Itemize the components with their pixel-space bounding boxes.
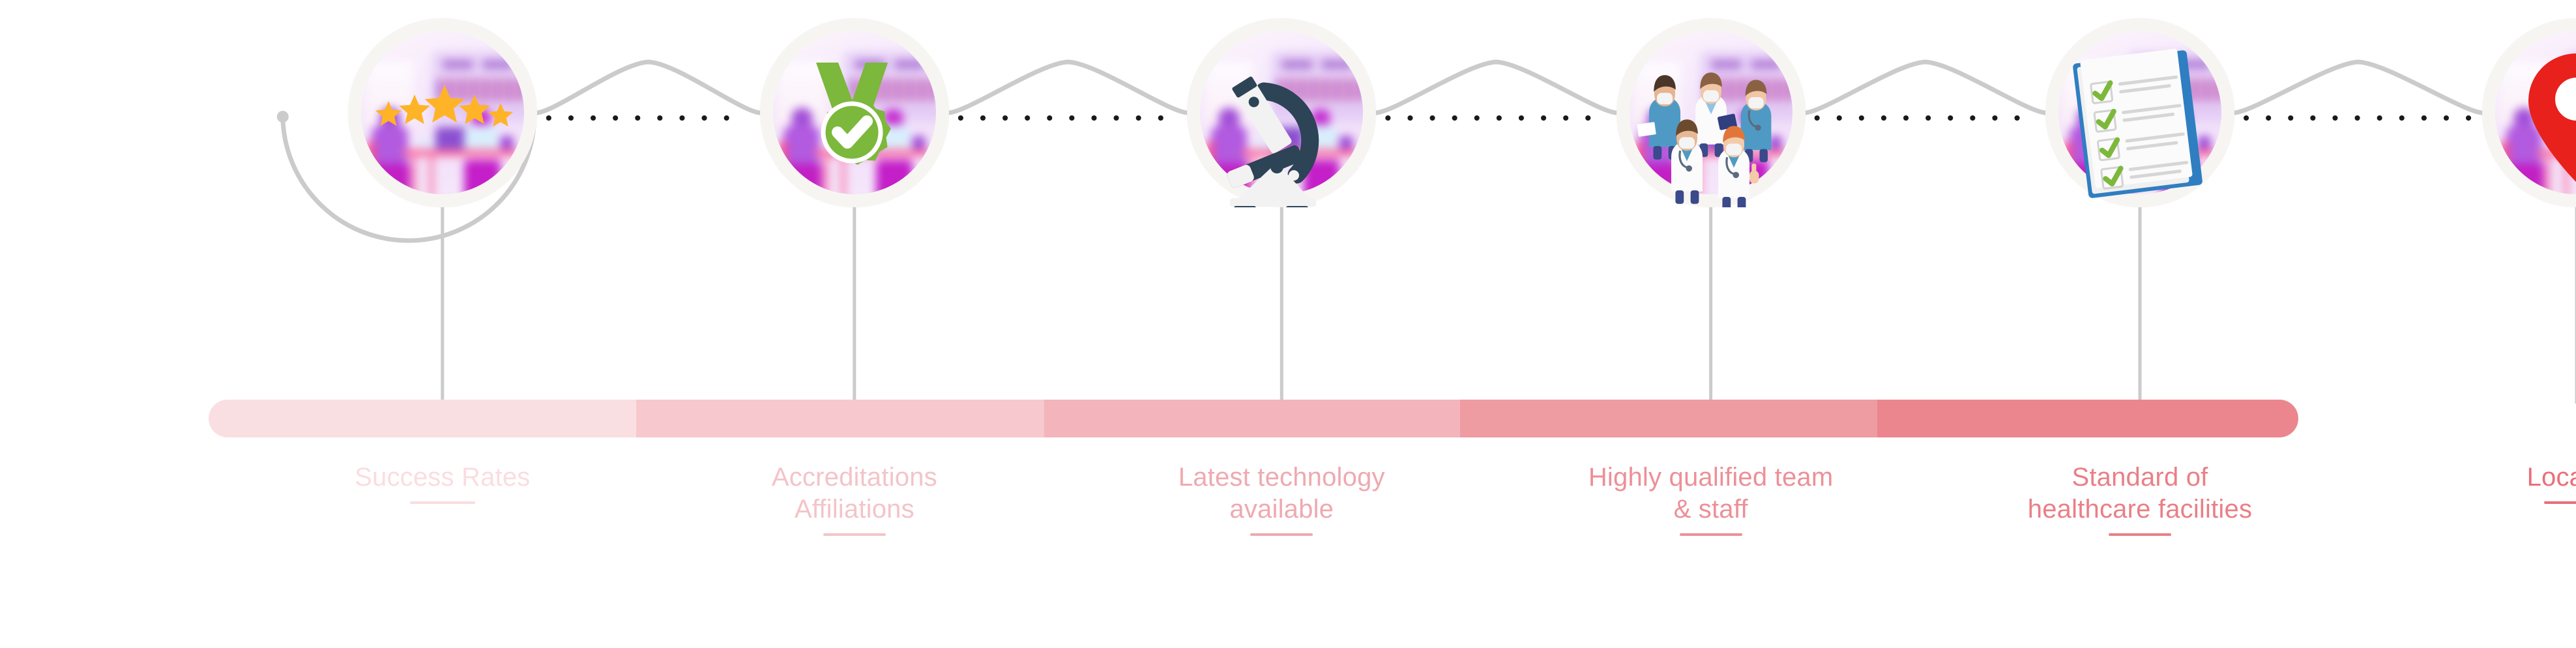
step-label-underline [1250,533,1313,536]
step-circle-5[interactable] [2045,18,2234,207]
step-label-text: Success Rates [355,463,530,492]
step-label-underline [410,501,475,504]
step-label-text: Highly qualified team & staff [1588,463,1834,523]
step-circle-6[interactable] [2482,18,2576,207]
progress-segment-1[interactable] [209,400,636,437]
step-label-4: Highly qualified team & staff [1574,462,1848,536]
step-circle-4[interactable] [1617,18,1806,207]
progress-segment-4[interactable] [1460,400,1877,437]
five-star-rating-icon [348,18,537,207]
location-pin-icon [2482,18,2576,207]
checklist-clipboard-icon [2045,18,2234,207]
award-medal-check-icon [760,18,949,207]
step-label-underline [1680,533,1742,536]
step-label-text: Latest technology available [1178,463,1385,523]
microscope-icon [1187,18,1376,207]
stem-connectors [443,201,2576,404]
location-pin-icon [2482,18,2576,207]
step-label-6: Location [2479,462,2576,504]
step-circle-1[interactable] [348,18,537,207]
progress-bar[interactable] [209,400,2298,437]
checklist-clipboard-icon [2045,18,2234,207]
infographic-canvas: Success RatesAccreditations Affiliations… [0,0,2576,648]
step-label-text: Standard of healthcare facilities [2028,463,2252,523]
step-label-1: Success Rates [345,462,540,504]
medical-team-icon [1617,18,1806,207]
step-label-3: Latest technology available [1164,462,1399,536]
step-label-text: Accreditations Affiliations [772,463,937,523]
microscope-icon [1187,18,1376,207]
progress-segment-3[interactable] [1044,400,1461,437]
step-label-underline [2109,533,2171,536]
step-label-2: Accreditations Affiliations [747,462,962,536]
step-label-text: Location [2527,463,2576,492]
step-circle-2[interactable] [760,18,949,207]
five-star-rating-icon [348,18,537,207]
award-medal-check-icon [760,18,949,207]
step-label-underline [2544,501,2576,504]
step-circle-3[interactable] [1187,18,1376,207]
progress-segment-5[interactable] [1877,400,2298,437]
medical-team-icon [1617,18,1806,207]
step-label-5: Standard of healthcare facilities [2000,462,2280,536]
progress-segment-2[interactable] [636,400,1044,437]
step-label-underline [823,533,886,536]
